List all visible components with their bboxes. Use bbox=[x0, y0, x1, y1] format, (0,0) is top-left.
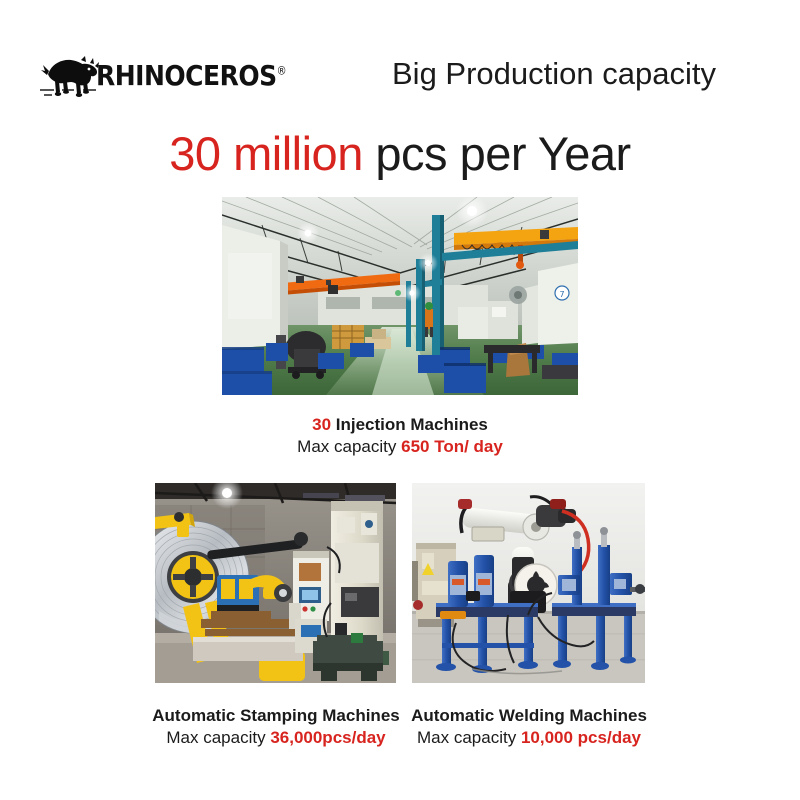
injection-count: 30 bbox=[312, 415, 331, 434]
stamping-machine-photo bbox=[155, 483, 396, 683]
stamping-capacity-label: Max capacity bbox=[166, 728, 270, 747]
welding-machine-photo bbox=[412, 483, 645, 683]
caption-injection: 30 Injection Machines Max capacity 650 T… bbox=[230, 414, 570, 459]
caption-injection-capacity: Max capacity 650 Ton/ day bbox=[230, 436, 570, 458]
capacity-statement: 30 million pcs per Year bbox=[0, 126, 800, 181]
caption-welding-title: Automatic Welding Machines bbox=[400, 705, 658, 727]
injection-capacity-label: Max capacity bbox=[297, 437, 401, 456]
registered-mark: ® bbox=[277, 65, 287, 77]
caption-stamping-title: Automatic Stamping Machines bbox=[140, 705, 412, 727]
caption-welding-capacity: Max capacity 10,000 pcs/day bbox=[400, 727, 658, 749]
caption-welding: Automatic Welding Machines Max capacity … bbox=[400, 705, 658, 750]
rhinoceros-silhouette-icon bbox=[38, 52, 100, 98]
welding-capacity-label: Max capacity bbox=[417, 728, 521, 747]
stamping-capacity-value: 36,000pcs/day bbox=[270, 728, 385, 747]
caption-injection-title: 30 Injection Machines bbox=[230, 414, 570, 436]
brand-logo: RHINOCEROS® bbox=[38, 52, 238, 104]
brand-wordmark: RHINOCEROS® bbox=[96, 59, 286, 91]
svg-text:7: 7 bbox=[559, 290, 564, 299]
injection-title: Injection Machines bbox=[331, 415, 488, 434]
injection-capacity-value: 650 Ton/ day bbox=[401, 437, 503, 456]
factory-interior-photo: 7 bbox=[222, 197, 578, 395]
caption-stamping-capacity: Max capacity 36,000pcs/day bbox=[140, 727, 412, 749]
brand-name: RHINOCEROS bbox=[96, 59, 277, 91]
capacity-statement-plain: pcs per Year bbox=[363, 127, 631, 180]
welding-capacity-value: 10,000 pcs/day bbox=[521, 728, 641, 747]
capacity-statement-accent: 30 million bbox=[169, 127, 363, 180]
page-header: RHINOCEROS® Big Production capacity bbox=[0, 0, 800, 120]
page-title: Big Production capacity bbox=[392, 56, 772, 92]
caption-stamping: Automatic Stamping Machines Max capacity… bbox=[140, 705, 412, 750]
